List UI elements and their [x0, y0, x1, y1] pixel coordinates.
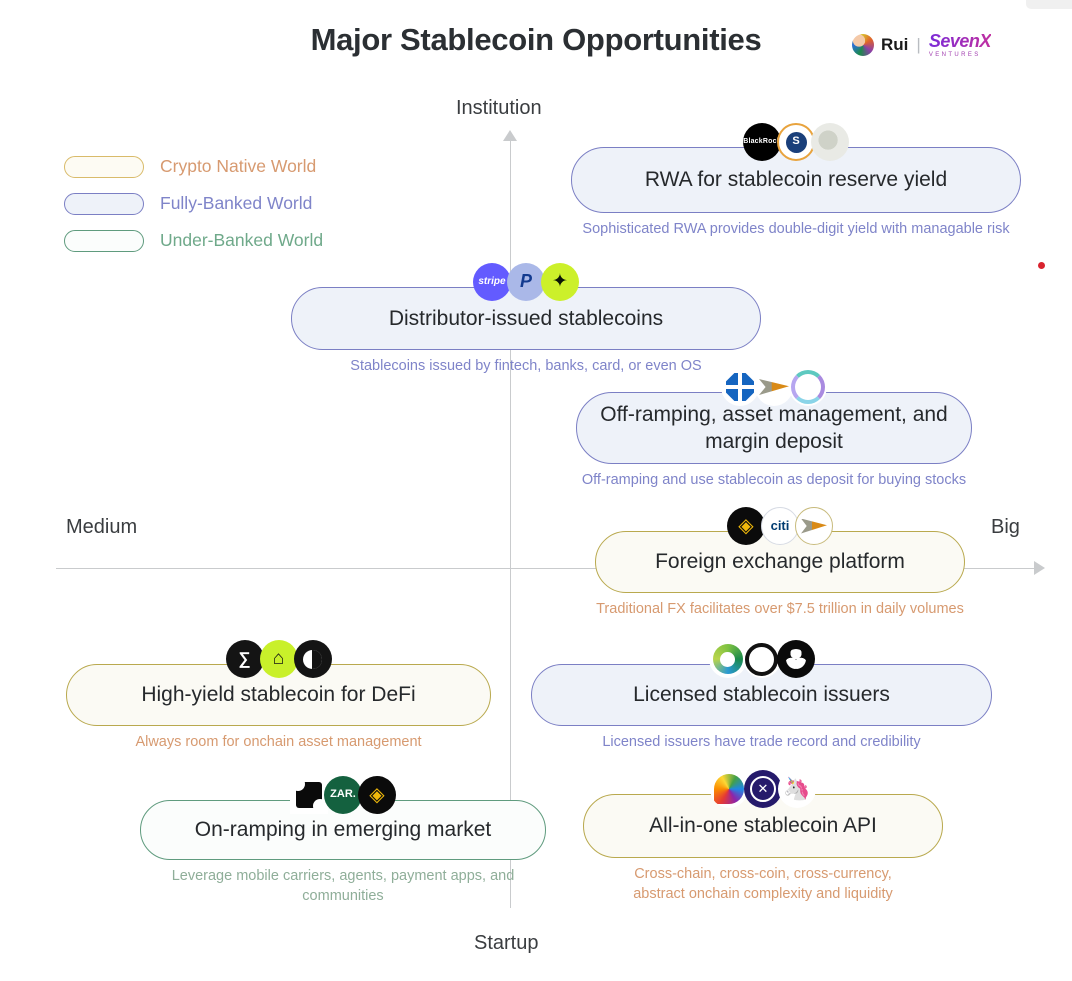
card-caption-all-in-one-stablecoin-api: Cross-chain, cross-coin, cross-currency,…	[583, 865, 943, 904]
card-icons-all-in-one-stablecoin-api: ✕ 🦄	[710, 770, 816, 808]
card-caption-distributor-issued-stablecoins: Stablecoins issued by fintech, banks, ca…	[291, 357, 761, 377]
securitize-icon: S	[777, 123, 815, 161]
card-caption-off-ramping-asset-management: Off-ramping and use stablecoin as deposi…	[576, 471, 972, 491]
citi-icon: citi	[761, 507, 799, 545]
diagram-canvas: Major Stablecoin Opportunities Rui | Sev…	[0, 0, 1072, 981]
paxos-icon	[709, 640, 747, 678]
card-caption-on-ramping-emerging-market: Leverage mobile carriers, agents, paymen…	[140, 867, 546, 906]
axis-label-startup: Startup	[474, 932, 538, 955]
paypal-icon: P	[507, 263, 545, 301]
socket-icon: ✕	[744, 770, 782, 808]
y-axis-arrow-icon	[503, 130, 517, 141]
card-caption-foreign-exchange-platform: Traditional FX facilitates over $7.5 tri…	[595, 600, 965, 620]
robinhood-icon: ✦	[541, 263, 579, 301]
window-corner-tab	[1026, 0, 1072, 9]
card-title-off-ramping-asset-management: Off-ramping, asset management, and margi…	[599, 401, 949, 456]
transak-icon	[290, 776, 328, 814]
card-all-in-one-stablecoin-api[interactable]: ✕ 🦄 All-in-one stablecoin API Cross-chai…	[583, 794, 943, 904]
chase-icon	[721, 368, 759, 406]
card-pill-high-yield-stablecoin-defi[interactable]: ∑ ⌂ High-yield stablecoin for DeFi	[66, 664, 491, 726]
brand-lockup: Rui | SevenX VENTURES	[852, 30, 991, 60]
card-title-on-ramping-emerging-market: On-ramping in emerging market	[195, 817, 491, 843]
legend-item-under-banked: Under-Banked World	[64, 224, 323, 257]
legend-label-under-banked: Under-Banked World	[160, 230, 323, 251]
legend-label-crypto-native: Crypto Native World	[160, 156, 316, 177]
card-icons-distributor-issued-stablecoins: stripe P ✦	[473, 263, 579, 301]
axis-label-institution: Institution	[456, 97, 542, 120]
sevenx-logo-tagline: VENTURES	[929, 52, 991, 58]
card-caption-line-1: Cross-chain, cross-coin, cross-currency,	[583, 865, 943, 885]
card-pill-all-in-one-stablecoin-api[interactable]: ✕ 🦄 All-in-one stablecoin API	[583, 794, 943, 858]
zar-icon: ZAR.	[324, 776, 362, 814]
card-icons-licensed-stablecoin-issuers	[709, 640, 815, 678]
legend-item-fully-banked: Fully-Banked World	[64, 187, 323, 220]
agora-icon	[743, 640, 781, 678]
card-pill-on-ramping-emerging-market[interactable]: ZAR. ◈ On-ramping in emerging market	[140, 800, 546, 860]
binance-icon: ◈	[358, 776, 396, 814]
revolut-icon	[789, 368, 827, 406]
x-axis-arrow-icon	[1034, 561, 1045, 575]
accent-dot-icon	[1038, 262, 1045, 269]
brand-separator: |	[916, 35, 920, 55]
card-icons-on-ramping-emerging-market: ZAR. ◈	[290, 776, 396, 814]
axis-label-medium: Medium	[66, 516, 137, 539]
card-icons-off-ramping-asset-management	[721, 368, 827, 406]
legend-swatch-crypto-native	[64, 156, 144, 178]
card-title-rwa-reserve-yield: RWA for stablecoin reserve yield	[645, 167, 947, 193]
card-icons-high-yield-stablecoin-defi: ∑ ⌂	[226, 640, 332, 678]
author-avatar-icon	[852, 34, 874, 56]
ethena-icon: ∑	[226, 640, 264, 678]
card-title-foreign-exchange-platform: Foreign exchange platform	[655, 549, 905, 575]
blackrock-icon: BlackRock	[743, 123, 781, 161]
author-name: Rui	[881, 35, 908, 55]
card-icons-rwa-reserve-yield: BlackRock S	[743, 123, 849, 161]
legend: Crypto Native World Fully-Banked World U…	[64, 150, 323, 261]
legend-label-fully-banked: Fully-Banked World	[160, 193, 312, 214]
card-caption-licensed-stablecoin-issuers: Licensed issuers have trade record and c…	[531, 733, 992, 753]
fidelity-icon	[755, 368, 793, 406]
card-icons-foreign-exchange-platform: ◈ citi	[727, 507, 833, 545]
lifi-icon	[710, 770, 748, 808]
card-licensed-stablecoin-issuers[interactable]: Licensed stablecoin issuers Licensed iss…	[531, 664, 992, 753]
card-on-ramping-emerging-market[interactable]: ZAR. ◈ On-ramping in emerging market Lev…	[140, 800, 546, 906]
legend-swatch-fully-banked	[64, 193, 144, 215]
ondo-icon	[294, 640, 332, 678]
card-pill-rwa-reserve-yield[interactable]: BlackRock S RWA for stablecoin reserve y…	[571, 147, 1021, 213]
card-pill-licensed-stablecoin-issuers[interactable]: Licensed stablecoin issuers	[531, 664, 992, 726]
card-caption-high-yield-stablecoin-defi: Always room for onchain asset management	[66, 733, 491, 753]
card-distributor-issued-stablecoins[interactable]: stripe P ✦ Distributor-issued stablecoin…	[291, 287, 761, 377]
y-axis-line	[510, 136, 511, 908]
card-off-ramping-asset-management[interactable]: Off-ramping, asset management, and margi…	[576, 392, 972, 491]
binance-icon: ◈	[727, 507, 765, 545]
card-title-licensed-stablecoin-issuers: Licensed stablecoin issuers	[633, 682, 890, 708]
card-caption-rwa-reserve-yield: Sophisticated RWA provides double-digit …	[571, 220, 1021, 240]
card-pill-distributor-issued-stablecoins[interactable]: stripe P ✦ Distributor-issued stablecoin…	[291, 287, 761, 350]
fidelity-icon	[795, 507, 833, 545]
uniswap-icon: 🦄	[778, 770, 816, 808]
dollar-bill-icon	[811, 123, 849, 161]
axis-label-big: Big	[991, 516, 1020, 539]
card-high-yield-stablecoin-defi[interactable]: ∑ ⌂ High-yield stablecoin for DeFi Alway…	[66, 664, 491, 753]
card-rwa-reserve-yield[interactable]: BlackRock S RWA for stablecoin reserve y…	[571, 147, 1021, 240]
legend-item-crypto-native: Crypto Native World	[64, 150, 323, 183]
sky-icon: ⌂	[260, 640, 298, 678]
legend-swatch-under-banked	[64, 230, 144, 252]
card-pill-foreign-exchange-platform[interactable]: ◈ citi Foreign exchange platform	[595, 531, 965, 593]
sevenx-logo-wordmark: SevenX	[929, 32, 991, 50]
sevenx-logo: SevenX VENTURES	[929, 32, 991, 58]
card-title-all-in-one-stablecoin-api: All-in-one stablecoin API	[649, 813, 877, 839]
card-caption-line-2: abstract onchain complexity and liquidit…	[583, 885, 943, 905]
card-pill-off-ramping-asset-management[interactable]: Off-ramping, asset management, and margi…	[576, 392, 972, 464]
stripe-icon: stripe	[473, 263, 511, 301]
brale-icon	[777, 640, 815, 678]
card-foreign-exchange-platform[interactable]: ◈ citi Foreign exchange platform Traditi…	[595, 531, 965, 620]
card-title-high-yield-stablecoin-defi: High-yield stablecoin for DeFi	[141, 682, 415, 708]
card-title-distributor-issued-stablecoins: Distributor-issued stablecoins	[389, 306, 663, 332]
